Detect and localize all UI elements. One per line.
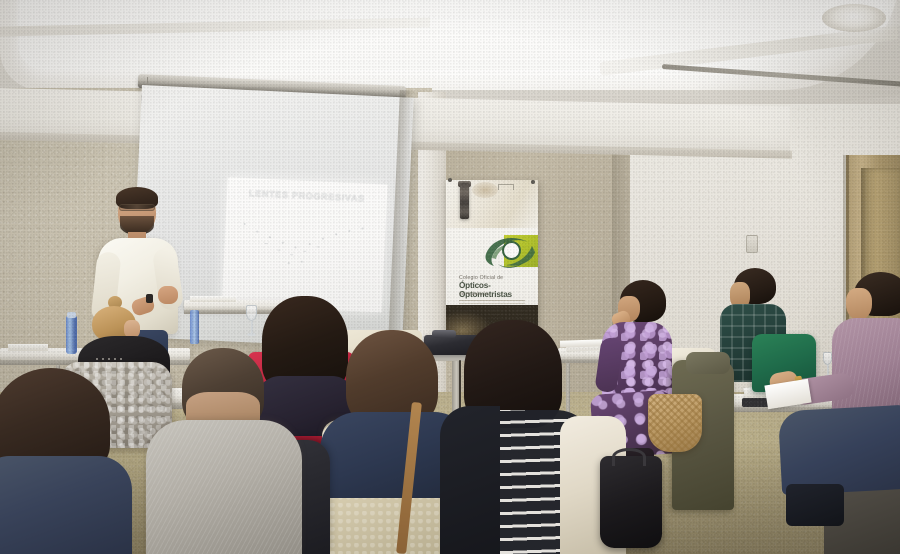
attendee-striped-shoulder xyxy=(440,406,500,554)
banner-org-line2: Ópticos-Optometristas xyxy=(459,281,538,299)
attendee-denim-jacket xyxy=(0,456,132,554)
attendee-legs xyxy=(786,484,844,526)
banner-org-line3: de Andalucía xyxy=(459,291,488,296)
trial-frame-icon xyxy=(460,183,469,219)
banner-clip-left xyxy=(448,178,452,182)
banner-rule xyxy=(459,300,525,301)
ceiling-light-icon xyxy=(822,4,886,32)
attendee-jeans xyxy=(778,405,900,496)
projected-slide: LENTES PROGRESIVAS xyxy=(222,177,388,312)
projector-lens-icon xyxy=(432,330,456,338)
olive-coat-collar xyxy=(686,352,730,374)
logo-pupil-icon xyxy=(502,241,521,260)
presenter-glasses-icon xyxy=(119,204,155,211)
bottle-cap xyxy=(67,312,76,318)
handbag xyxy=(600,456,662,548)
banner-rule-2 xyxy=(459,303,525,304)
attendee-mauve-sweater xyxy=(832,318,900,414)
presenter-hand-right xyxy=(158,286,178,304)
handbag-handle xyxy=(612,448,646,466)
photo-scene: LENTES PROGRESIVAS xyxy=(0,0,900,554)
attendee-face xyxy=(846,288,872,320)
banner-top-photo xyxy=(446,180,538,228)
banner-bracket-icon xyxy=(498,184,514,190)
wall-switch[interactable] xyxy=(746,235,758,253)
projector-cable xyxy=(459,360,461,412)
studs-detail xyxy=(96,358,122,360)
basket-bag xyxy=(648,394,702,452)
water-bottle xyxy=(66,316,77,354)
banner-smudge xyxy=(472,182,498,198)
attendee-grey-sweater xyxy=(146,420,302,554)
presenter-clicker xyxy=(146,294,153,303)
papers xyxy=(190,296,236,302)
slide-title: LENTES PROGRESIVAS xyxy=(235,188,379,205)
papers xyxy=(8,344,48,351)
banner-clip-right xyxy=(531,180,535,184)
water-bottle xyxy=(190,310,199,344)
